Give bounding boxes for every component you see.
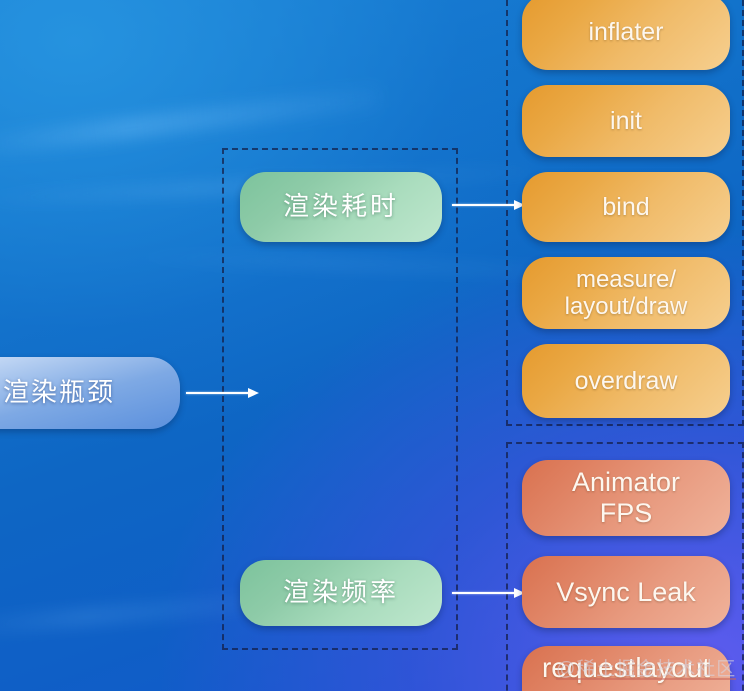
node-bind[interactable]: bind (522, 172, 730, 242)
node-init[interactable]: init (522, 85, 730, 157)
node-overdraw[interactable]: overdraw (522, 344, 730, 418)
node-render-time-label: 渲染耗时 (283, 192, 399, 222)
node-vsync-leak[interactable]: Vsync Leak (522, 556, 730, 628)
node-vsync-leak-label: Vsync Leak (556, 577, 696, 608)
node-measure-layout-draw[interactable]: measure/ layout/draw (522, 257, 730, 329)
node-inflater[interactable]: inflater (522, 0, 730, 70)
node-render-frequency[interactable]: 渲染频率 (240, 560, 442, 626)
node-inflater-label: inflater (588, 18, 663, 47)
node-init-label: init (610, 107, 642, 136)
node-bind-label: bind (602, 193, 649, 222)
node-animator-line-1: Animator (572, 467, 680, 497)
node-measure-line-1: measure/ (576, 266, 676, 293)
mindmap-canvas: 渲染瓶颈 渲染耗时 渲染频率 inflater init bind measur… (0, 0, 744, 691)
node-animator-line-2: FPS (600, 498, 653, 528)
node-overdraw-label: overdraw (575, 367, 678, 396)
node-render-bottleneck-label: 渲染瓶颈 (3, 378, 115, 408)
node-render-frequency-label: 渲染频率 (283, 578, 399, 608)
node-render-time[interactable]: 渲染耗时 (240, 172, 442, 242)
node-requestlayout[interactable]: requestlayout (522, 646, 730, 691)
node-animator-fps[interactable]: Animator FPS (522, 460, 730, 536)
watermark-underline (556, 678, 736, 680)
node-measure-line-2: layout/draw (565, 293, 688, 320)
node-animator-fps-label: Animator FPS (572, 467, 680, 529)
node-render-bottleneck[interactable]: 渲染瓶颈 (0, 357, 180, 429)
node-measure-layout-draw-label: measure/ layout/draw (565, 266, 688, 321)
